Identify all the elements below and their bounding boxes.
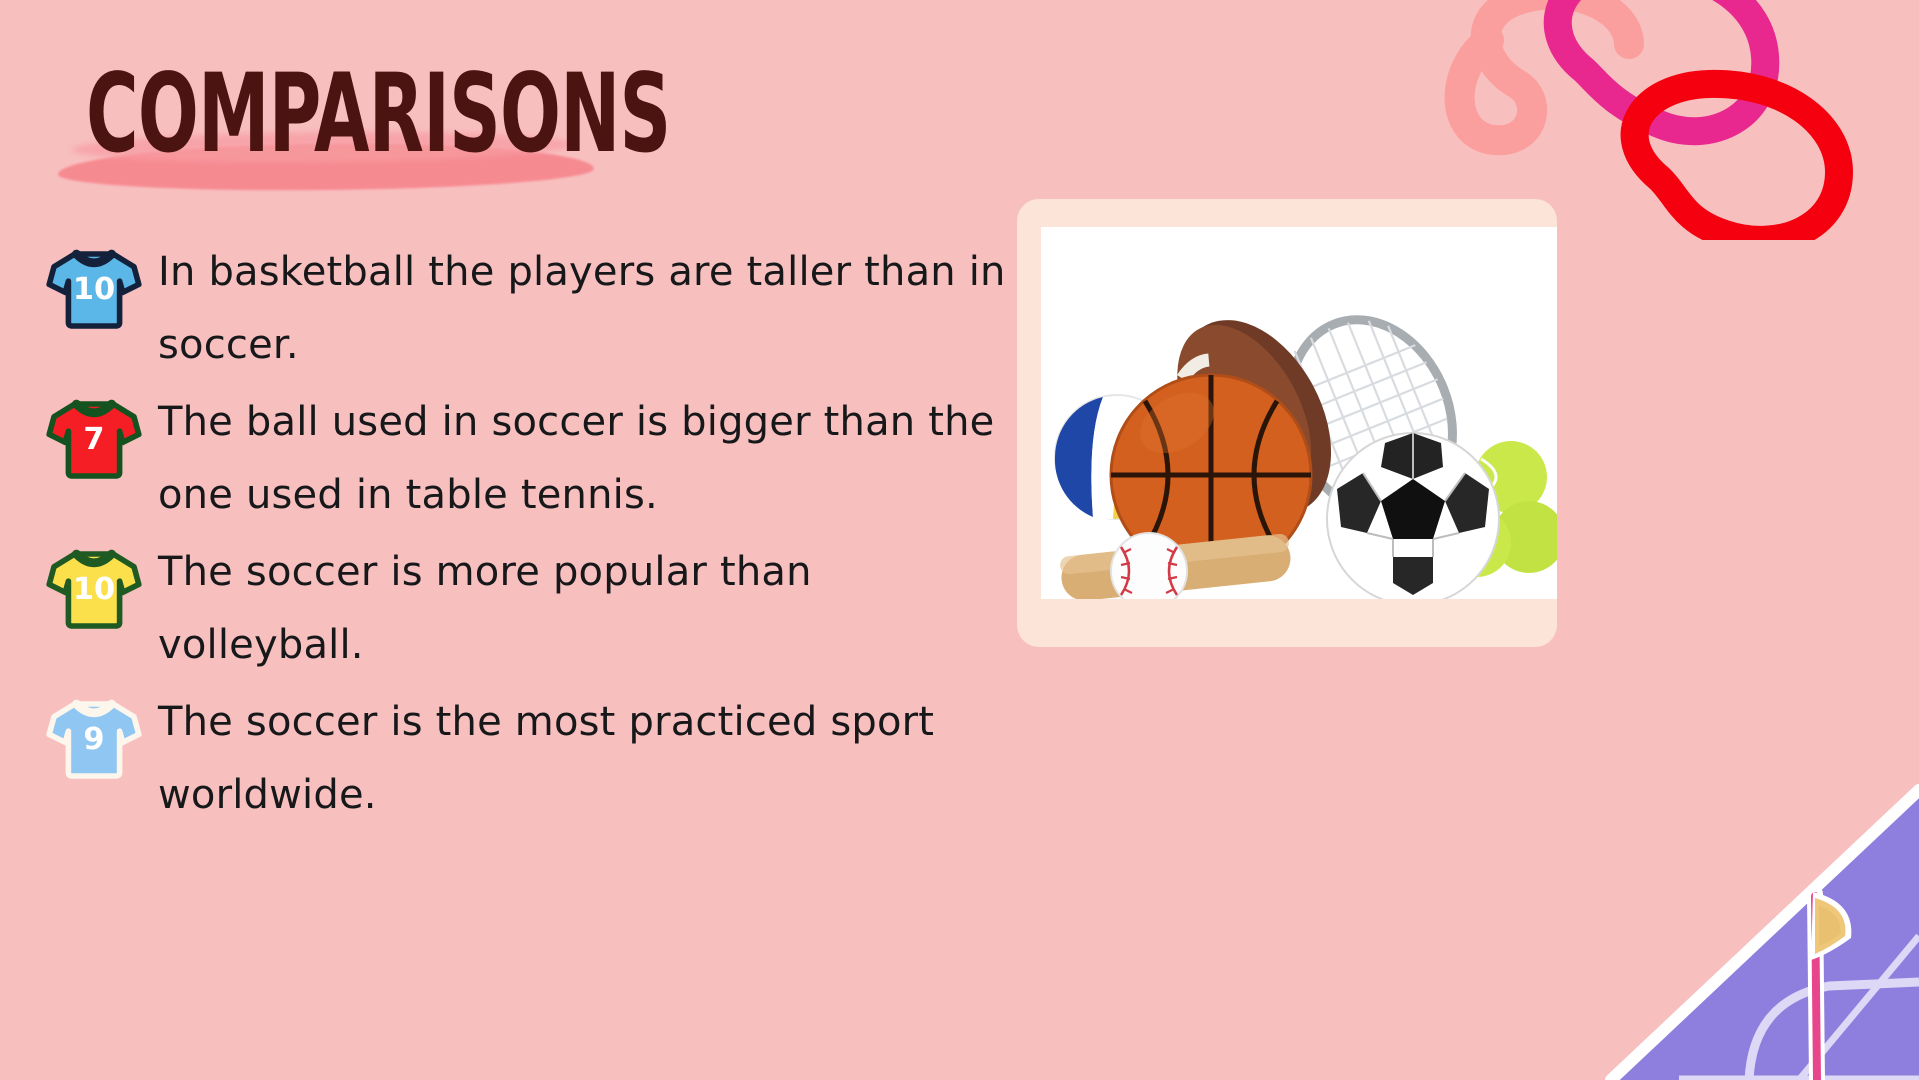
squiggle-red-icon — [1635, 84, 1839, 240]
squiggle-salmon-icon — [1460, 0, 1629, 140]
tshirt-icon: 10 — [46, 546, 142, 629]
list-item-text: The soccer is more popular than volleyba… — [154, 536, 1006, 682]
photo-frame — [1017, 199, 1557, 647]
list-item-text: The ball used in soccer is bigger than t… — [154, 386, 1006, 532]
sports-equipment-photo — [1041, 227, 1557, 599]
list-item: 10 In basketball the players are taller … — [46, 236, 1006, 382]
sports-equipment-illustration — [1041, 227, 1557, 599]
jersey-number: 10 — [73, 272, 115, 307]
bullet-list: 10 In basketball the players are taller … — [46, 236, 1006, 836]
list-item: 9 The soccer is the most practiced sport… — [46, 686, 1006, 832]
jersey-number: 9 — [83, 722, 104, 757]
jersey-slot: 10 — [46, 236, 154, 329]
list-item: 7 The ball used in soccer is bigger than… — [46, 386, 1006, 532]
page-title: COMPARISONS — [86, 58, 670, 171]
tshirt-icon: 9 — [46, 696, 142, 779]
jersey-slot: 7 — [46, 386, 154, 479]
soccer-field-corner — [1499, 750, 1919, 1080]
tshirt-icon: 7 — [46, 396, 142, 479]
slide-canvas: COMPARISONS 10 In basketball the players… — [0, 0, 1919, 1080]
baseball-icon — [1111, 533, 1187, 599]
jersey-number: 7 — [83, 422, 104, 457]
squiggle-magenta-icon — [1558, 0, 1766, 131]
jersey-slot: 9 — [46, 686, 154, 779]
tshirt-icon: 10 — [46, 246, 142, 329]
list-item-text: In basketball the players are taller tha… — [154, 236, 1006, 382]
corner-flag-icon — [1811, 892, 1851, 1080]
list-item-text: The soccer is the most practiced sport w… — [154, 686, 1006, 832]
page-title-group: COMPARISONS — [86, 58, 835, 154]
jersey-slot: 10 — [46, 536, 154, 629]
jersey-number: 10 — [73, 572, 115, 607]
soccer-ball-icon — [1327, 433, 1499, 599]
list-item: 10 The soccer is more popular than volle… — [46, 536, 1006, 682]
